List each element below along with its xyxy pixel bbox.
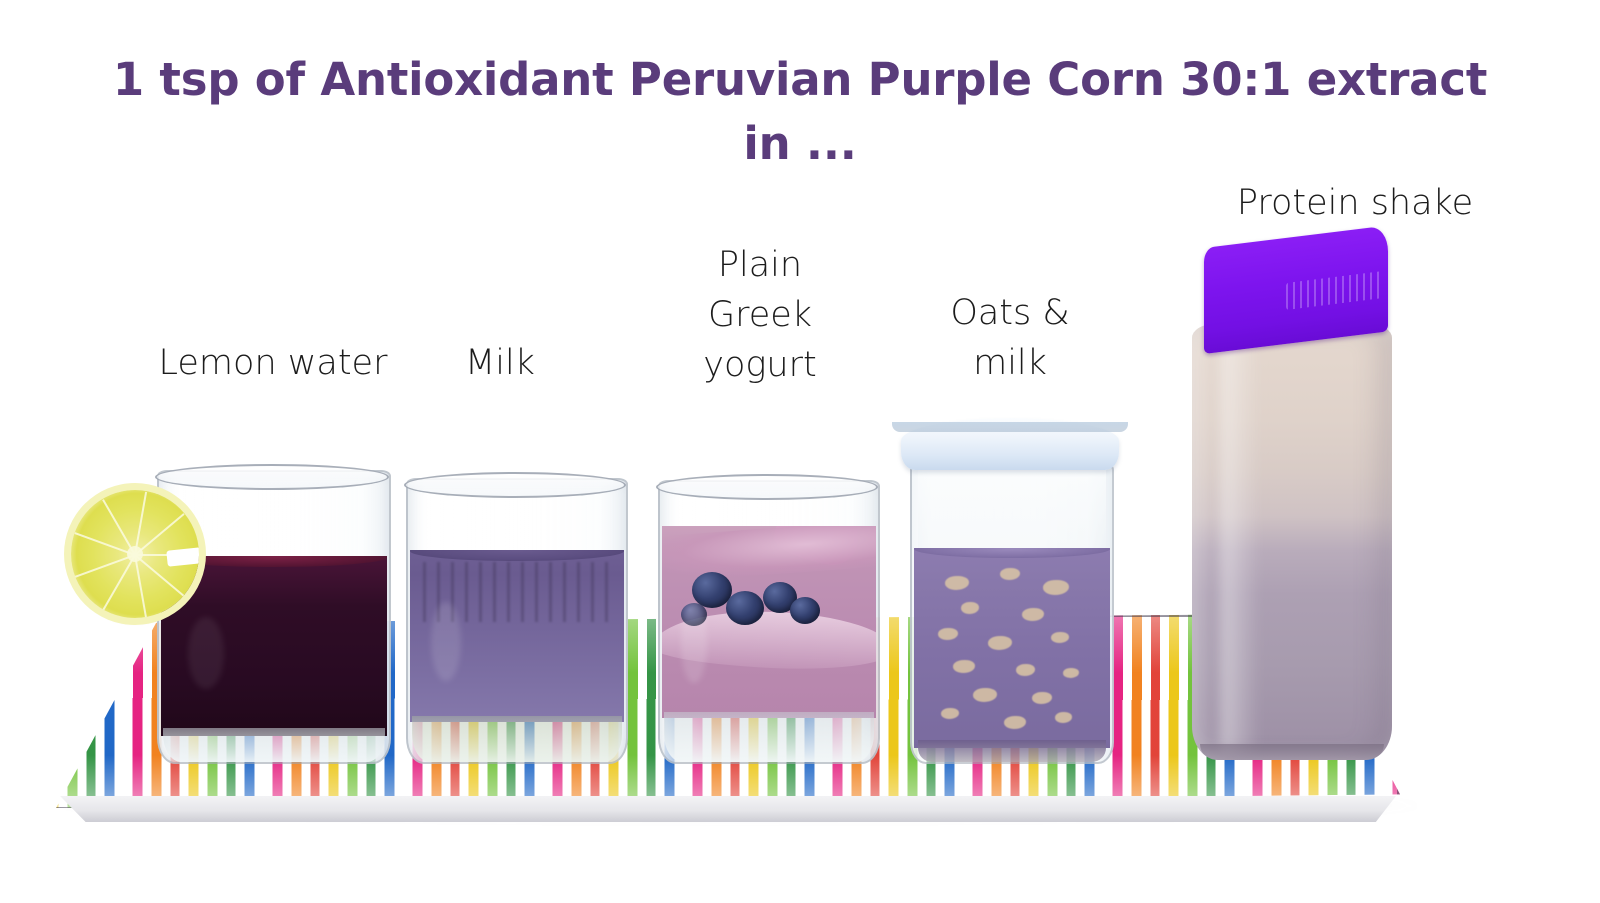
- oat-flake: [1043, 580, 1069, 595]
- bottle-body-protein-shake: [1192, 324, 1392, 760]
- liquid-lemon-water: [161, 556, 387, 736]
- bottle-base: [1200, 744, 1384, 760]
- oat-flake: [941, 708, 959, 719]
- jar-lid-oats-milk: [901, 418, 1119, 470]
- oat-flake: [961, 602, 979, 614]
- oat-flake: [953, 660, 975, 673]
- oat-flake: [1063, 668, 1079, 678]
- glass-body-milk: [406, 478, 628, 764]
- bottle-highlight: [1220, 333, 1260, 752]
- glass-highlight: [431, 602, 461, 681]
- oat-flake: [945, 576, 969, 590]
- jar-base-oats-milk: [918, 740, 1106, 762]
- glass-rim-greek-yogurt: [656, 474, 878, 500]
- yogurt-mass: [662, 526, 876, 718]
- oat-flake: [1016, 664, 1035, 676]
- glass-highlight: [681, 603, 707, 684]
- vessel-lemon-water: [157, 470, 387, 760]
- jar-lid-band: [892, 422, 1128, 432]
- glass-rim-lemon-water: [155, 464, 389, 490]
- glass-base-lemon-water: [163, 728, 385, 762]
- glass-rim-milk: [404, 472, 626, 498]
- infographic-canvas: 1 tsp of Antioxidant Peruvian Purple Cor…: [0, 0, 1600, 903]
- vessel-milk: [406, 478, 624, 760]
- glass-body-greek-yogurt: [658, 480, 880, 764]
- tray-side-wall: [52, 796, 1396, 822]
- oat-flake: [1000, 568, 1020, 580]
- oat-flake: [1004, 716, 1026, 729]
- lemon-slice-garnish: [71, 490, 199, 618]
- bottle-lid-protein-shake: [1204, 225, 1388, 354]
- item-label-protein-shake: Protein shake: [1120, 178, 1590, 228]
- oat-flake: [1022, 608, 1044, 621]
- glass-base-milk: [412, 716, 622, 762]
- glass-base-greek-yogurt: [664, 712, 874, 762]
- oat-flake: [1032, 692, 1052, 704]
- liquid-surface-milk: [410, 550, 624, 561]
- vessel-greek-yogurt: [658, 480, 876, 760]
- oat-flake: [973, 688, 997, 702]
- oat-flake: [1051, 632, 1069, 643]
- lemon-notch: [166, 547, 199, 566]
- oats-mixture: [914, 548, 1110, 748]
- page-title: 1 tsp of Antioxidant Peruvian Purple Cor…: [0, 48, 1600, 176]
- oat-flake: [938, 628, 958, 640]
- item-label-oats-milk: Oats & milk: [905, 288, 1115, 388]
- lemon-core: [127, 546, 143, 562]
- jar-body-oats-milk: [910, 460, 1114, 764]
- item-label-lemon-water: Lemon water: [118, 338, 428, 388]
- glass-highlight: [188, 617, 224, 689]
- glass-body-lemon-water: [157, 470, 391, 764]
- jar-empty-headspace: [918, 466, 1106, 550]
- yogurt-swirl-upper: [662, 526, 876, 583]
- item-label-milk: Milk: [400, 338, 600, 388]
- item-label-greek-yogurt: Plain Greek yogurt: [640, 240, 880, 390]
- vessel-oats-milk: [910, 460, 1110, 760]
- vessel-protein-shake: [1192, 248, 1392, 760]
- oat-flake: [988, 636, 1012, 650]
- bottle-lid-ridges: [1286, 271, 1382, 310]
- oat-flake: [1055, 712, 1072, 723]
- oats-surface: [914, 548, 1110, 558]
- liquid-milk: [410, 550, 624, 722]
